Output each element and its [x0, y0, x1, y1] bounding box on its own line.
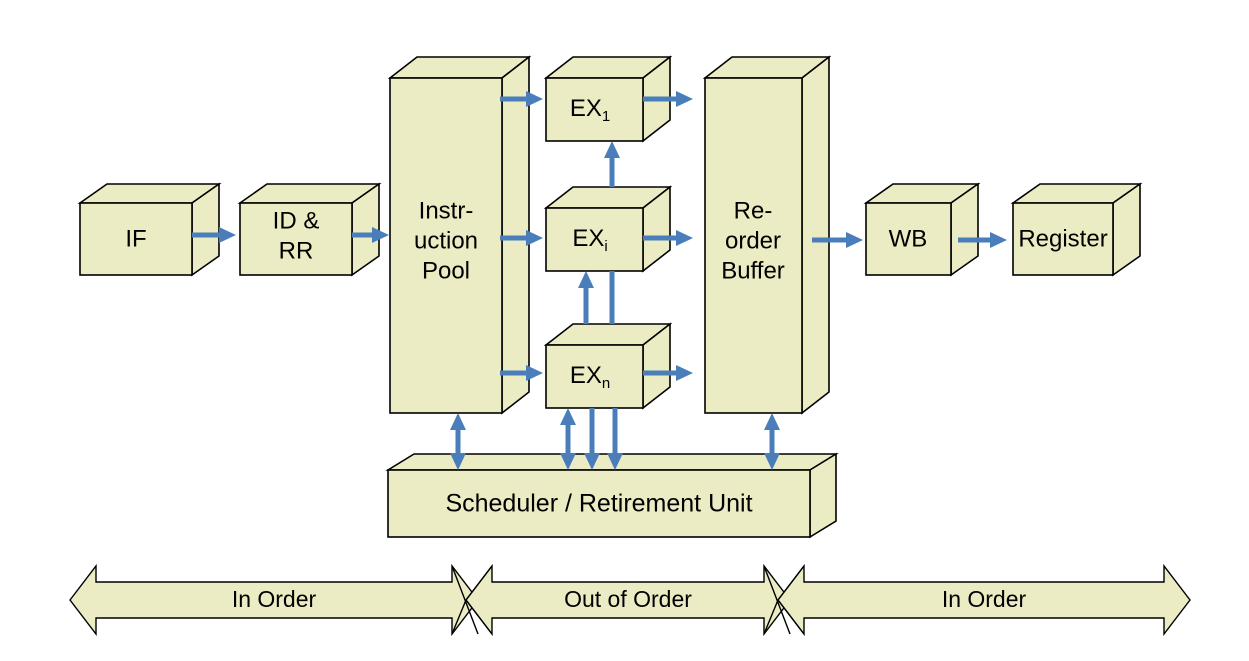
stage-label-instruction-pool-line3: Pool	[422, 257, 470, 284]
arrow-exn-to-exi	[578, 271, 594, 324]
stage-label-id-rr-line1: ID &	[273, 207, 320, 234]
pipeline-diagram: In Order Out of Order In Order Scheduler…	[0, 0, 1249, 661]
stage-box-register: Register	[1013, 184, 1140, 275]
stage-label-instruction-pool-line1: Instr-	[419, 197, 474, 224]
ribbon-label-3: In Order	[942, 586, 1027, 612]
stage-box-instruction-pool: Instr- uction Pool	[390, 57, 529, 413]
stage-label-wb: WB	[889, 225, 928, 252]
stage-label-reorder-buffer-line2: order	[725, 227, 781, 254]
stage-box-if: IF	[80, 184, 219, 275]
stage-label-instruction-pool-line2: uction	[414, 227, 478, 254]
stage-box-wb: WB	[866, 184, 978, 275]
diagram-canvas: In Order Out of Order In Order Scheduler…	[0, 0, 1249, 661]
stage-box-ex-i: EXi	[546, 187, 670, 271]
ribbon-in-order-back: In Order	[778, 566, 1190, 634]
stage-label-reorder-buffer-line1: Re-	[734, 197, 773, 224]
stage-box-reorder-buffer: Re- order Buffer	[705, 57, 829, 413]
ribbon-out-of-order: Out of Order	[466, 566, 790, 634]
stage-label-ex-i: EXi	[572, 225, 607, 255]
stage-label-register: Register	[1018, 225, 1107, 252]
arrow-exi-to-ex1	[604, 141, 620, 187]
stage-box-id-rr: ID & RR	[240, 184, 379, 275]
ribbon-in-order-front: In Order	[70, 566, 478, 634]
ribbon-label-1: In Order	[232, 586, 317, 612]
stage-label-if: IF	[125, 225, 146, 252]
stage-label-reorder-buffer-line3: Buffer	[721, 257, 785, 284]
phase-ribbon: In Order Out of Order In Order	[70, 566, 1190, 634]
stage-label-id-rr-line2: RR	[279, 237, 314, 264]
ribbon-label-2: Out of Order	[564, 586, 692, 612]
stage-box-ex-n: EXn	[546, 324, 670, 408]
scheduler-label: Scheduler / Retirement Unit	[445, 490, 752, 518]
scheduler-retirement-unit: Scheduler / Retirement Unit	[388, 454, 836, 537]
